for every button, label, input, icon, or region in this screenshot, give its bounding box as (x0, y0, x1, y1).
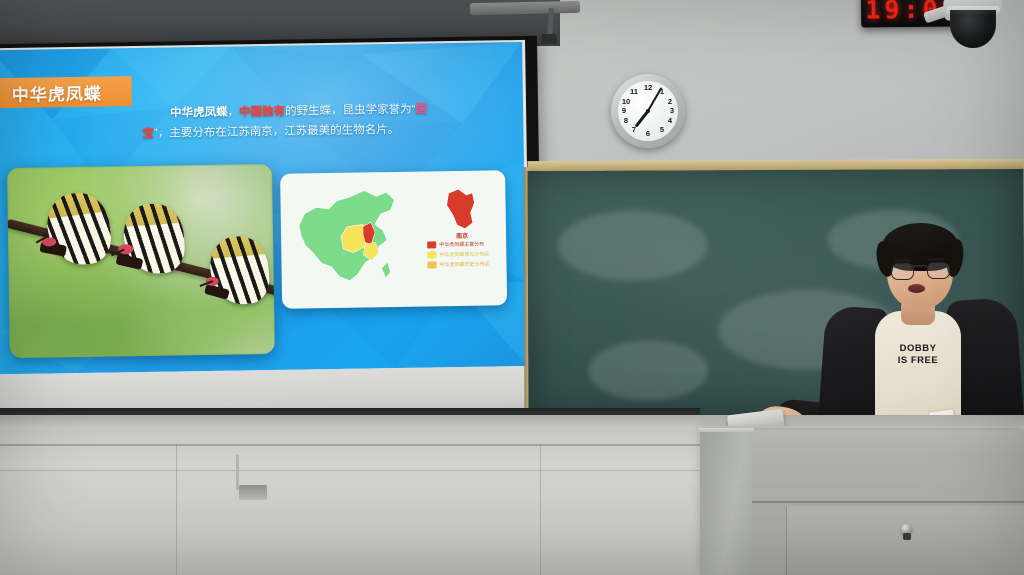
butterfly-1-stripes (44, 189, 114, 268)
lectern-left-side (700, 432, 752, 575)
clock-numeral-8: 8 (621, 116, 631, 126)
slide-title-text: 中华虎凤蝶 (12, 79, 102, 105)
presenter-mouth (908, 284, 925, 293)
distribution-map: 南京 中华虎凤蝶主要分布 中华虎凤蝶偶见分布区 中华虎凤蝶历史分布区 (280, 170, 507, 309)
legend-swatch-occasional (427, 251, 436, 258)
legend-label-primary: 中华虎凤蝶主要分布 (439, 241, 484, 248)
slide-comma1: ， (228, 106, 240, 118)
legend-swatch-historic (427, 261, 436, 268)
legend-swatch-primary (427, 241, 436, 248)
slide-body-text: 中华虎凤蝶，中国独有的野生蝶，昆虫学家誉为“国 宝”，主要分布在江苏南京，江苏最… (142, 98, 513, 144)
presenter: DOBBY IS FREE (815, 215, 1024, 445)
upper-right-wall (520, 0, 1024, 180)
butterfly-1-wing (44, 189, 114, 268)
screen-roller-cap (541, 34, 557, 44)
clock-numeral-3: 3 (667, 106, 677, 116)
screen-roller-tube (470, 1, 580, 15)
wall-panel-divider (176, 444, 177, 575)
clock-numeral-9: 9 (619, 106, 629, 116)
wall-seam-upper (0, 444, 700, 446)
wall-panel-divider (540, 444, 541, 575)
china-map-shape (290, 182, 422, 294)
legend-label-occasional: 中华虎凤蝶偶见分布区 (439, 251, 489, 258)
clock-numeral-5: 5 (657, 125, 667, 135)
presenter-brow-right (927, 258, 944, 261)
clock-numeral-6: 6 (643, 129, 653, 139)
wall-seam-lower (0, 470, 760, 471)
chalk-smudge (558, 210, 708, 281)
clock-center-hub (646, 109, 650, 113)
lectern-cabinet-door[interactable] (786, 506, 1024, 575)
shirt-text-line-2: IS FREE (875, 355, 961, 367)
legend-label-historic: 中华虎凤蝶历史分布区 (439, 261, 489, 268)
nanjing-inset-label: 南京 (439, 231, 485, 241)
classroom-scene: 中华虎凤蝶 中华虎凤蝶，中国独有的野生蝶，昆虫学家誉为“国 宝”，主要分布在江苏… (0, 0, 1024, 575)
slide-highlight-china-unique: 中国独有 (239, 106, 285, 119)
presenter-shirt-text: DOBBY IS FREE (875, 343, 961, 367)
presenter-brow-left (894, 259, 911, 262)
clock-numeral-11: 11 (629, 87, 639, 97)
glasses-bridge (911, 265, 927, 267)
projection-screen: 中华虎凤蝶 中华虎凤蝶，中国独有的野生蝶，昆虫学家誉为“国 宝”，主要分布在江苏… (0, 36, 543, 430)
glasses-lens-right (927, 262, 950, 279)
map-legend: 中华虎凤蝶主要分布 中华虎凤蝶偶见分布区 中华虎凤蝶历史分布区 (427, 241, 489, 272)
legend-item-primary: 中华虎凤蝶主要分布 (427, 241, 489, 249)
clock-numeral-10: 10 (621, 97, 631, 107)
slide-body-line2: 宝”，主要分布在江苏南京，江苏最美的生物名片。 (142, 124, 399, 140)
legend-item-historic: 中华虎凤蝶历史分布区 (427, 261, 489, 269)
clock-numeral-12: 12 (643, 83, 653, 93)
nanjing-inset-shape (442, 187, 479, 232)
slide-rest-text: ，主要分布在江苏南京，江苏最美的生物名片。 (158, 124, 400, 140)
wall-bracket-head (239, 485, 267, 500)
legend-item-occasional: 中华虎凤蝶偶见分布区 (427, 251, 489, 259)
butterfly-photo (7, 164, 275, 358)
shirt-text-line-1: DOBBY (875, 343, 961, 355)
slide-title-banner: 中华虎凤蝶 (0, 76, 132, 108)
projected-slide: 中华虎凤蝶 中华虎凤蝶，中国独有的野生蝶，昆虫学家誉为“国 宝”，主要分布在江苏… (0, 42, 527, 374)
analog-wall-clock: 12 1 2 3 4 5 6 7 8 9 10 11 (611, 74, 685, 148)
chalk-smudge (588, 340, 708, 401)
slide-highlight-guo: 国 (415, 103, 427, 115)
lectern-door-knob-shadow (903, 533, 911, 540)
slide-mid-text: 的野生蝶，昆虫学家誉为 (285, 104, 412, 118)
slide-highlight-bao: 宝 (142, 128, 154, 140)
lectern-drawer-seam (752, 501, 1024, 503)
slide-lead-term: 中华虎凤蝶 (170, 107, 228, 120)
